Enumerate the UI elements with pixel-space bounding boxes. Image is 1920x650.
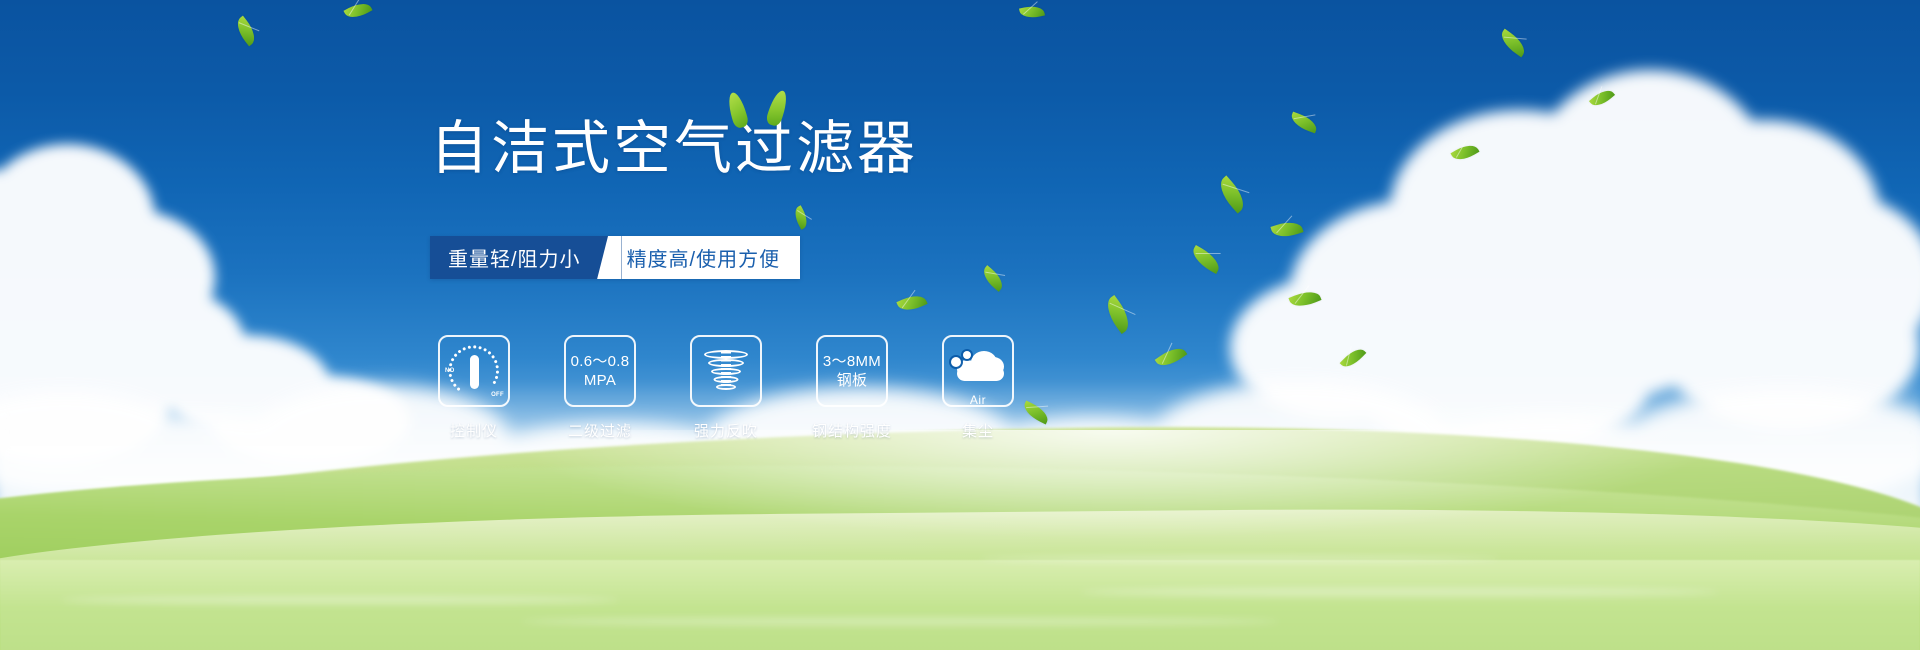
pressure-line-1: 0.6～0.8 (571, 352, 630, 371)
title-leaves-decoration (728, 86, 798, 134)
feature-icon-box: 0.6～0.8 MPA (564, 335, 636, 407)
feature-label: 钢结构强度 (812, 420, 892, 441)
feature-item-blowback[interactable]: 强力反吹 (690, 335, 762, 441)
gauge-needle (470, 355, 479, 389)
steel-line-2: 钢板 (823, 371, 881, 390)
leaf-icon (765, 89, 790, 128)
control-gauge-icon: NO OFF (446, 343, 502, 399)
subtitle-tag-bar: 重量轻/阻力小 精度高/使用方便 (430, 236, 800, 279)
banner-content: 自洁式空气过滤器 重量轻/阻力小 精度高/使用方便 (0, 0, 1920, 650)
feature-icon-box: NO OFF (438, 335, 510, 407)
feature-label: 控制仪 (450, 420, 498, 441)
steel-line-1: 3～8MM (823, 352, 881, 371)
gauge-label-on: NO (445, 368, 455, 374)
feature-item-pressure[interactable]: 0.6～0.8 MPA 二级过滤 (564, 335, 636, 441)
feature-icon-box (690, 335, 762, 407)
steel-plate-text-icon: 3～8MM 钢板 (823, 352, 881, 390)
feature-item-steel[interactable]: 3～8MM 钢板 钢结构强度 (816, 335, 888, 441)
product-hero-banner: 自洁式空气过滤器 重量轻/阻力小 精度高/使用方便 (0, 0, 1920, 650)
pressure-text-icon: 0.6～0.8 MPA (571, 352, 630, 390)
subtitle-tag-right: 精度高/使用方便 (621, 236, 801, 279)
leaf-icon (725, 91, 749, 130)
air-cloud-icon: Air (949, 347, 1007, 395)
blowback-pipe (721, 352, 731, 392)
feature-label: 二级过滤 (568, 420, 632, 441)
feature-label: 强力反吹 (694, 420, 758, 441)
gauge-label-off: OFF (491, 392, 504, 398)
feature-icon-box: 3～8MM 钢板 (816, 335, 888, 407)
blowback-stack-icon (700, 344, 752, 398)
feature-icon-box: Air (942, 335, 1014, 407)
feature-item-dust[interactable]: Air 集尘 (942, 335, 1014, 441)
title-row: 自洁式空气过滤器 (430, 118, 918, 180)
subtitle-tag-left: 重量轻/阻力小 (430, 236, 597, 279)
feature-list: NO OFF 控制仪 0.6～0.8 MPA 二级过滤 (438, 335, 1014, 441)
air-label: Air (949, 393, 1007, 407)
feature-label: 集尘 (962, 420, 994, 441)
page-title: 自洁式空气过滤器 (430, 118, 918, 180)
pressure-line-2: MPA (571, 371, 630, 390)
subtitle-tag-divider (596, 236, 622, 279)
feature-item-control[interactable]: NO OFF 控制仪 (438, 335, 510, 441)
